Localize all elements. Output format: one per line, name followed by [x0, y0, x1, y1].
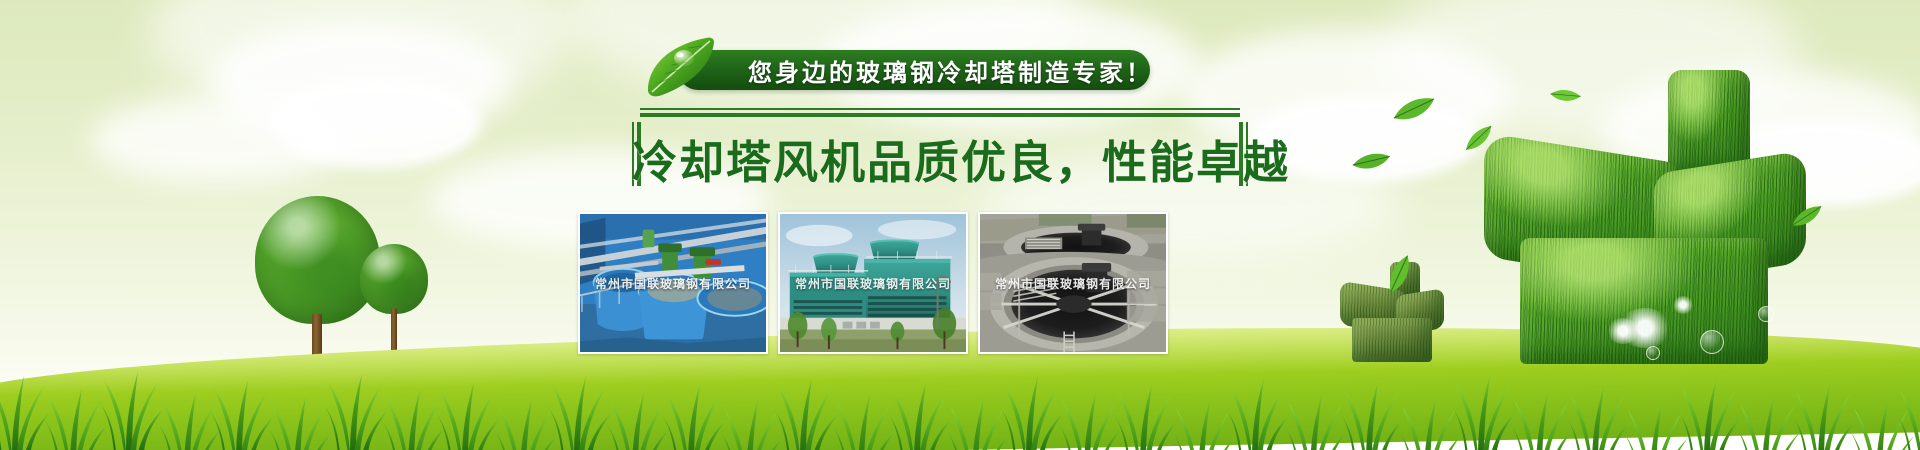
bubble	[1758, 306, 1774, 322]
grass-house-small-icon	[1338, 262, 1444, 360]
bubble	[1646, 346, 1660, 360]
sparkle	[1672, 296, 1694, 314]
frame-rule-top-thick	[640, 113, 1240, 117]
product-photo[interactable]: 常州市国联玻璃钢有限公司	[778, 212, 968, 354]
frame-rule-top-thin	[640, 108, 1240, 110]
product-photo[interactable]: 常州市国联玻璃钢有限公司	[978, 212, 1168, 354]
cloud	[90, 96, 350, 184]
house-body	[1352, 318, 1432, 362]
photo-watermark: 常州市国联玻璃钢有限公司	[980, 275, 1166, 292]
tree-canopy	[360, 244, 428, 314]
product-photo-strip: 常州市国联玻璃钢有限公司	[578, 212, 1168, 354]
promo-banner: 您身边的玻璃钢冷却塔制造专家！ 冷却塔风机品质优良，性能卓越	[0, 0, 1920, 450]
slogan-text: 您身边的玻璃钢冷却塔制造专家！	[748, 53, 1153, 88]
grass-blades	[0, 364, 1920, 450]
headline-frame: 冷却塔风机品质优良，性能卓越	[632, 108, 1248, 180]
sparkle	[1606, 318, 1640, 344]
headline-text: 冷却塔风机品质优良，性能卓越	[632, 126, 1248, 191]
photo-watermark: 常州市国联玻璃钢有限公司	[780, 275, 966, 292]
tree-trunk	[312, 314, 322, 358]
tree-small-icon	[360, 244, 428, 356]
slogan-badge: 您身边的玻璃钢冷却塔制造专家！	[678, 50, 1150, 90]
product-photo[interactable]: 常州市国联玻璃钢有限公司	[578, 212, 768, 354]
photo-watermark: 常州市国联玻璃钢有限公司	[580, 275, 766, 292]
bubble	[1700, 330, 1724, 354]
tree-trunk	[391, 308, 397, 352]
